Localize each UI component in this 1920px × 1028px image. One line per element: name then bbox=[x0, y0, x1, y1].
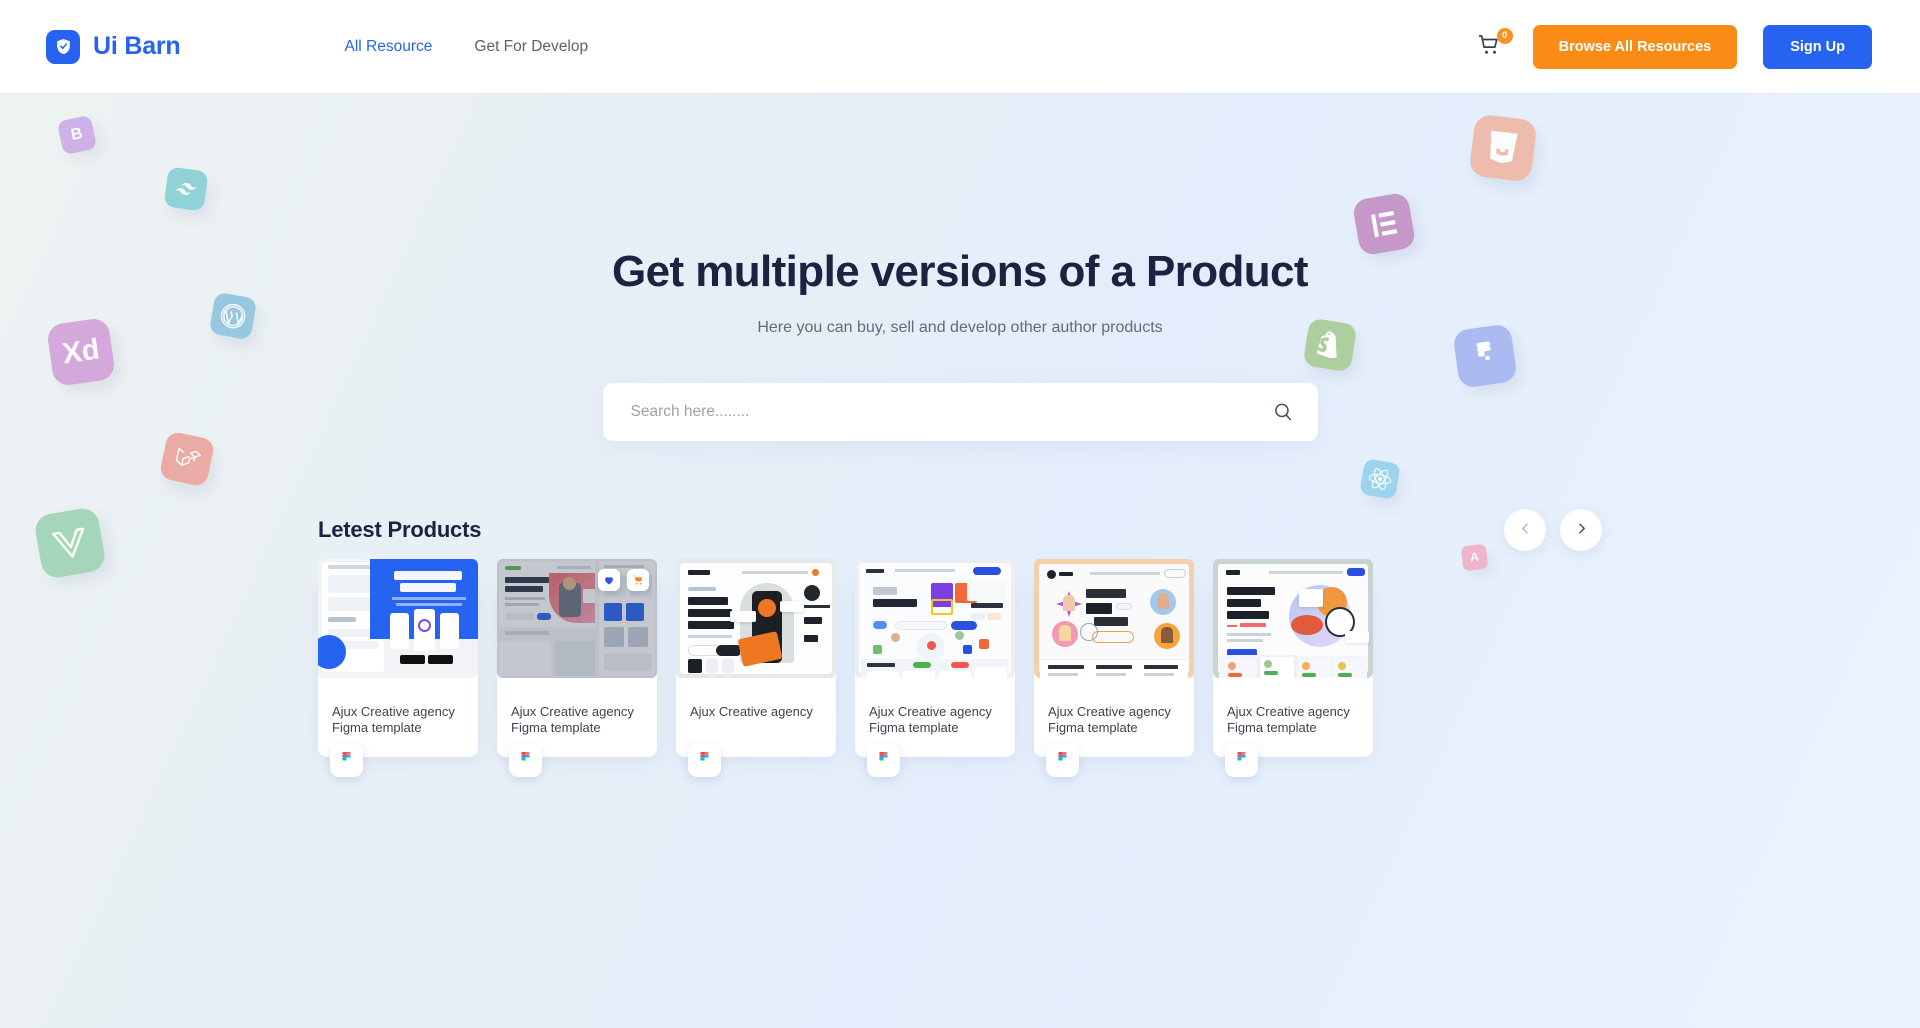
product-card[interactable]: Ajux Creative agency Figma template bbox=[318, 581, 478, 757]
section-title: Letest Products bbox=[318, 517, 481, 543]
product-card[interactable]: Ajux Creative agency Figma template bbox=[1213, 581, 1373, 757]
nav-item-all-resource[interactable]: All Resource bbox=[345, 38, 433, 56]
sign-up-button[interactable]: Sign Up bbox=[1763, 25, 1872, 69]
product-title: Ajux Creative agency Figma template bbox=[869, 704, 1001, 737]
product-thumbnail bbox=[497, 559, 657, 678]
header-actions: 0 Browse All Resources Sign Up bbox=[1477, 25, 1872, 69]
product-card[interactable]: Ajux Creative agency Figma template bbox=[1034, 581, 1194, 757]
main-nav: All Resource Get For Develop bbox=[345, 38, 589, 56]
carousel-next-button[interactable] bbox=[1560, 509, 1602, 551]
search-bar[interactable] bbox=[603, 383, 1318, 441]
product-card[interactable]: Ajux Creative agency Figma template bbox=[497, 581, 657, 757]
product-title: Ajux Creative agency Figma template bbox=[1048, 704, 1180, 737]
latest-products-section: Letest Products bbox=[0, 509, 1920, 757]
products-header: Letest Products bbox=[318, 509, 1602, 551]
product-title: Ajux Creative agency Figma template bbox=[332, 704, 464, 737]
card-hover-actions bbox=[598, 569, 649, 591]
chevron-right-icon bbox=[1575, 522, 1588, 538]
cart-button[interactable]: 0 bbox=[1477, 32, 1507, 62]
product-thumbnail bbox=[1213, 559, 1373, 678]
favorite-icon[interactable] bbox=[598, 569, 620, 591]
search-icon[interactable] bbox=[1272, 401, 1294, 423]
product-title: Ajux Creative agency bbox=[690, 704, 822, 720]
product-card[interactable]: Ajux Creative agency Figma template bbox=[855, 581, 1015, 757]
brand-name: Ui Barn bbox=[93, 32, 181, 61]
product-card-list: Ajux Creative agency Figma template bbox=[318, 581, 1602, 757]
add-to-cart-icon[interactable] bbox=[627, 569, 649, 591]
figma-icon bbox=[688, 744, 721, 777]
product-thumbnail bbox=[1034, 559, 1194, 678]
carousel-prev-button[interactable] bbox=[1504, 509, 1546, 551]
nav-item-get-for-develop[interactable]: Get For Develop bbox=[474, 38, 588, 56]
product-thumbnail bbox=[676, 559, 836, 678]
react-icon bbox=[1359, 458, 1401, 500]
hero-subtitle: Here you can buy, sell and develop other… bbox=[0, 319, 1920, 337]
cart-count-badge: 0 bbox=[1497, 28, 1513, 44]
product-thumbnail bbox=[855, 559, 1015, 678]
carousel-controls bbox=[1504, 509, 1602, 551]
browse-all-resources-button[interactable]: Browse All Resources bbox=[1533, 25, 1738, 69]
figma-icon bbox=[1046, 744, 1079, 777]
search-input[interactable] bbox=[631, 403, 1272, 421]
product-card[interactable]: Ajux Creative agency bbox=[676, 581, 836, 757]
product-title: Ajux Creative agency Figma template bbox=[1227, 704, 1359, 737]
product-card-body: Ajux Creative agency bbox=[676, 678, 836, 740]
page-title: Get multiple versions of a Product bbox=[0, 247, 1920, 297]
figma-icon bbox=[867, 744, 900, 777]
figma-icon bbox=[330, 744, 363, 777]
shield-check-icon bbox=[46, 30, 80, 64]
figma-icon bbox=[1225, 744, 1258, 777]
product-thumbnail bbox=[318, 559, 478, 678]
brand-logo[interactable]: Ui Barn bbox=[46, 30, 181, 64]
chevron-left-icon bbox=[1519, 522, 1532, 538]
hero-section: Get multiple versions of a Product Here … bbox=[0, 93, 1920, 441]
product-title: Ajux Creative agency Figma template bbox=[511, 704, 643, 737]
figma-icon bbox=[509, 744, 542, 777]
site-header: Ui Barn All Resource Get For Develop 0 B… bbox=[0, 0, 1920, 93]
